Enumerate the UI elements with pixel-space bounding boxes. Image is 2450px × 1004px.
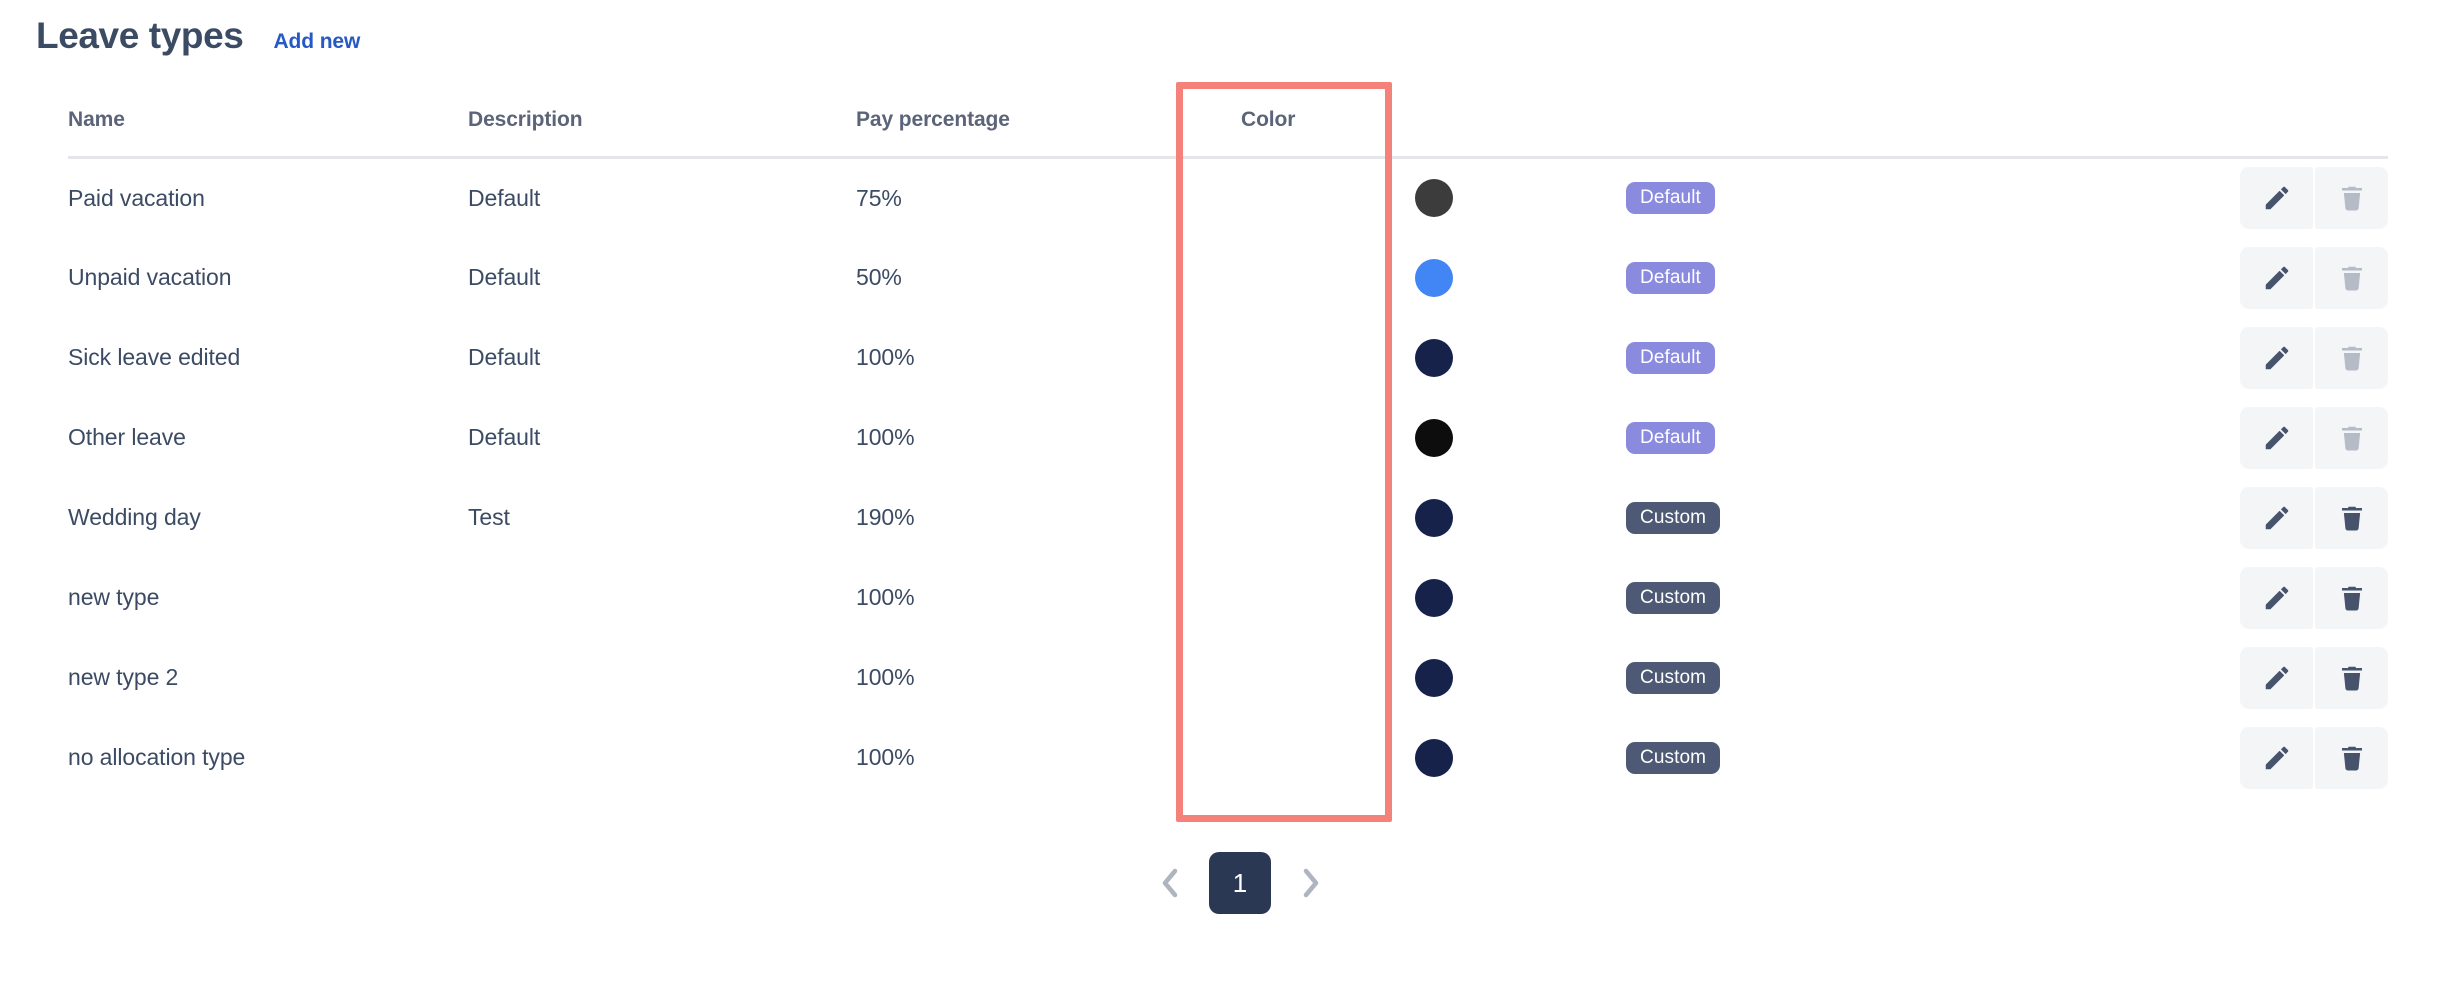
cell-description: Test xyxy=(468,478,856,558)
color-swatch xyxy=(1415,579,1453,617)
cell-pay-percentage: 100% xyxy=(856,558,1241,638)
edit-row-button[interactable] xyxy=(2240,647,2313,709)
cell-kind: Default xyxy=(1626,318,2026,398)
cell-name: new type xyxy=(68,558,468,638)
leave-types-page: Leave types Add new Name Description Pay… xyxy=(0,0,2450,1004)
status-badge: Default xyxy=(1626,342,1715,374)
pencil-icon xyxy=(2262,503,2292,533)
pencil-icon xyxy=(2262,583,2292,613)
cell-pay-percentage: 100% xyxy=(856,398,1241,478)
table-header-row: Name Description Pay percentage Color xyxy=(68,108,2388,158)
cell-pay-percentage: 100% xyxy=(856,638,1241,718)
leave-types-table: Name Description Pay percentage Color Pa… xyxy=(68,108,2388,798)
row-action-group xyxy=(2240,327,2388,389)
edit-row-button[interactable] xyxy=(2240,247,2313,309)
trash-icon xyxy=(2337,503,2367,533)
cell-color xyxy=(1241,318,1626,398)
delete-row-button[interactable] xyxy=(2315,567,2388,629)
cell-actions xyxy=(2026,238,2388,318)
pencil-icon xyxy=(2262,183,2292,213)
status-badge: Default xyxy=(1626,182,1715,214)
table-row: Unpaid vacationDefault50%Default xyxy=(68,238,2388,318)
delete-row-button[interactable] xyxy=(2315,487,2388,549)
cell-name: new type 2 xyxy=(68,638,468,718)
delete-row-button xyxy=(2315,167,2388,229)
cell-description xyxy=(468,638,856,718)
cell-actions xyxy=(2026,638,2388,718)
pencil-icon xyxy=(2262,743,2292,773)
cell-pay-percentage: 100% xyxy=(856,318,1241,398)
status-badge: Custom xyxy=(1626,582,1720,614)
row-action-group xyxy=(2240,167,2388,229)
status-badge: Default xyxy=(1626,262,1715,294)
pagination-page-1[interactable]: 1 xyxy=(1209,852,1271,914)
cell-color xyxy=(1241,558,1626,638)
pagination-prev-button[interactable] xyxy=(1153,859,1187,907)
add-new-link[interactable]: Add new xyxy=(273,30,360,54)
delete-row-button[interactable] xyxy=(2315,727,2388,789)
row-action-group xyxy=(2240,727,2388,789)
chevron-right-icon xyxy=(1297,865,1323,901)
cell-description xyxy=(468,558,856,638)
pagination: 1 xyxy=(0,852,2450,914)
color-swatch xyxy=(1415,739,1453,777)
pencil-icon xyxy=(2262,343,2292,373)
column-header-color[interactable]: Color xyxy=(1241,108,1626,158)
cell-actions xyxy=(2026,398,2388,478)
table-row: new type 2100%Custom xyxy=(68,638,2388,718)
column-header-kind xyxy=(1626,108,2026,158)
trash-icon xyxy=(2337,183,2367,213)
cell-pay-percentage: 190% xyxy=(856,478,1241,558)
cell-color xyxy=(1241,638,1626,718)
edit-row-button[interactable] xyxy=(2240,167,2313,229)
cell-color xyxy=(1241,158,1626,238)
row-action-group xyxy=(2240,647,2388,709)
cell-description: Default xyxy=(468,398,856,478)
table-row: new type100%Custom xyxy=(68,558,2388,638)
pencil-icon xyxy=(2262,663,2292,693)
trash-icon xyxy=(2337,263,2367,293)
edit-row-button[interactable] xyxy=(2240,407,2313,469)
cell-kind: Custom xyxy=(1626,718,2026,798)
table-body: Paid vacationDefault75%DefaultUnpaid vac… xyxy=(68,158,2388,798)
cell-actions xyxy=(2026,158,2388,238)
chevron-left-icon xyxy=(1157,865,1183,901)
cell-pay-percentage: 50% xyxy=(856,238,1241,318)
cell-kind: Default xyxy=(1626,238,2026,318)
status-badge: Custom xyxy=(1626,662,1720,694)
trash-icon xyxy=(2337,343,2367,373)
cell-description: Default xyxy=(468,238,856,318)
status-badge: Custom xyxy=(1626,742,1720,774)
color-swatch xyxy=(1415,259,1453,297)
status-badge: Custom xyxy=(1626,502,1720,534)
cell-actions xyxy=(2026,478,2388,558)
row-action-group xyxy=(2240,247,2388,309)
edit-row-button[interactable] xyxy=(2240,487,2313,549)
cell-name: Wedding day xyxy=(68,478,468,558)
cell-kind: Default xyxy=(1626,158,2026,238)
trash-icon xyxy=(2337,743,2367,773)
edit-row-button[interactable] xyxy=(2240,327,2313,389)
delete-row-button xyxy=(2315,247,2388,309)
column-header-name[interactable]: Name xyxy=(68,108,468,158)
cell-kind: Custom xyxy=(1626,558,2026,638)
cell-actions xyxy=(2026,558,2388,638)
page-title: Leave types xyxy=(36,16,243,57)
cell-name: no allocation type xyxy=(68,718,468,798)
color-swatch xyxy=(1415,179,1453,217)
page-header: Leave types Add new xyxy=(36,16,360,57)
cell-pay-percentage: 100% xyxy=(856,718,1241,798)
column-header-actions xyxy=(2026,108,2388,158)
cell-name: Unpaid vacation xyxy=(68,238,468,318)
delete-row-button[interactable] xyxy=(2315,647,2388,709)
edit-row-button[interactable] xyxy=(2240,567,2313,629)
color-swatch xyxy=(1415,499,1453,537)
cell-color xyxy=(1241,238,1626,318)
cell-pay-percentage: 75% xyxy=(856,158,1241,238)
table-row: Paid vacationDefault75%Default xyxy=(68,158,2388,238)
color-swatch xyxy=(1415,339,1453,377)
cell-name: Sick leave edited xyxy=(68,318,468,398)
edit-row-button[interactable] xyxy=(2240,727,2313,789)
cell-kind: Custom xyxy=(1626,638,2026,718)
trash-icon xyxy=(2337,583,2367,613)
table-head: Name Description Pay percentage Color xyxy=(68,108,2388,158)
cell-actions xyxy=(2026,318,2388,398)
cell-description xyxy=(468,718,856,798)
pencil-icon xyxy=(2262,423,2292,453)
color-swatch xyxy=(1415,419,1453,457)
pagination-next-button[interactable] xyxy=(1293,859,1327,907)
cell-color xyxy=(1241,398,1626,478)
cell-description: Default xyxy=(468,318,856,398)
cell-actions xyxy=(2026,718,2388,798)
leave-types-table-wrap: Name Description Pay percentage Color Pa… xyxy=(68,108,2388,798)
row-action-group xyxy=(2240,407,2388,469)
cell-color xyxy=(1241,718,1626,798)
row-action-group xyxy=(2240,567,2388,629)
cell-name: Paid vacation xyxy=(68,158,468,238)
cell-color xyxy=(1241,478,1626,558)
delete-row-button xyxy=(2315,407,2388,469)
pencil-icon xyxy=(2262,263,2292,293)
trash-icon xyxy=(2337,423,2367,453)
status-badge: Default xyxy=(1626,422,1715,454)
table-row: Sick leave editedDefault100%Default xyxy=(68,318,2388,398)
cell-name: Other leave xyxy=(68,398,468,478)
trash-icon xyxy=(2337,663,2367,693)
delete-row-button xyxy=(2315,327,2388,389)
table-row: Other leaveDefault100%Default xyxy=(68,398,2388,478)
column-header-description[interactable]: Description xyxy=(468,108,856,158)
column-header-pay-percentage[interactable]: Pay percentage xyxy=(856,108,1241,158)
color-swatch xyxy=(1415,659,1453,697)
table-row: no allocation type100%Custom xyxy=(68,718,2388,798)
table-row: Wedding dayTest190%Custom xyxy=(68,478,2388,558)
cell-kind: Default xyxy=(1626,398,2026,478)
cell-description: Default xyxy=(468,158,856,238)
row-action-group xyxy=(2240,487,2388,549)
cell-kind: Custom xyxy=(1626,478,2026,558)
